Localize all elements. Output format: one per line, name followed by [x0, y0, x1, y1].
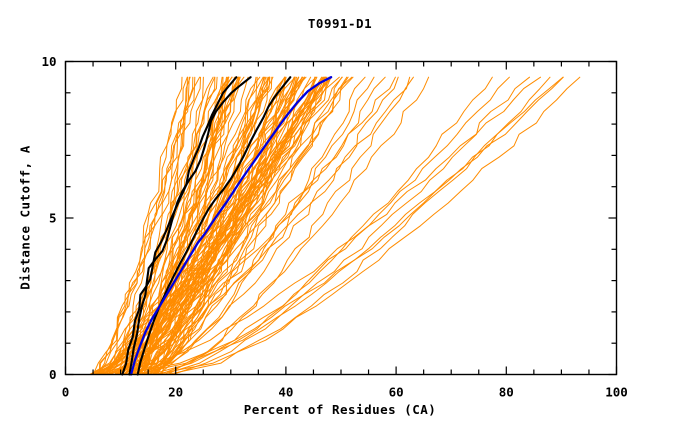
x-tick-20: 20 — [168, 385, 183, 400]
y-axis-label: Distance Cutoff, A — [18, 118, 33, 318]
y-tick-5: 5 — [49, 211, 57, 226]
x-axis-label: Percent of Residues (CA) — [0, 402, 680, 417]
plot-canvas: 0204060801000510 — [0, 0, 680, 440]
y-tick-0: 0 — [49, 367, 57, 382]
background-curve-bundle — [90, 77, 580, 374]
y-tick-10: 10 — [41, 54, 56, 69]
x-tick-40: 40 — [278, 385, 293, 400]
x-tick-0: 0 — [62, 385, 70, 400]
x-tick-80: 80 — [499, 385, 514, 400]
x-tick-100: 100 — [605, 385, 628, 400]
x-tick-60: 60 — [389, 385, 404, 400]
